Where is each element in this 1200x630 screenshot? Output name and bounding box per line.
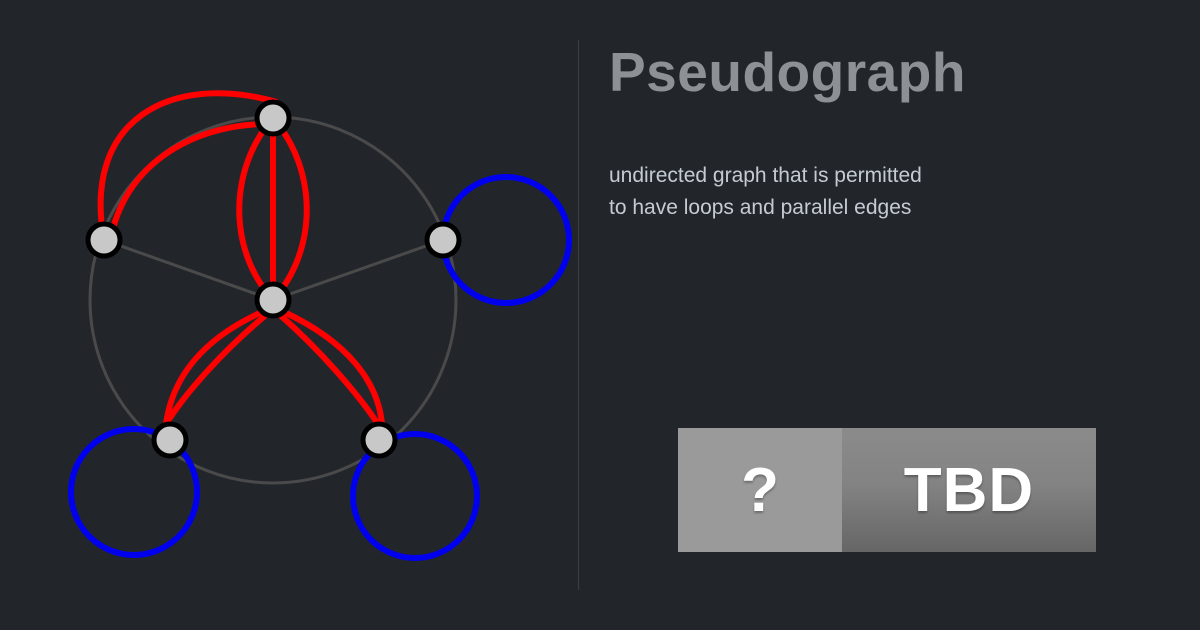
status-badge[interactable]: ? TBD: [678, 428, 1096, 552]
info-panel: Pseudograph undirected graph that is per…: [609, 0, 1169, 630]
graph-node-bottom-right[interactable]: [363, 424, 395, 456]
page-description: undirected graph that is permitted to ha…: [609, 160, 939, 224]
graph-illustration-panel: [0, 0, 578, 630]
self-loop-right-node: [443, 177, 569, 303]
badge-left-question-mark: ?: [678, 428, 842, 552]
pseudograph-diagram: [0, 0, 578, 630]
parallel-edge-center-bottom-left-1: [166, 315, 266, 424]
page-title: Pseudograph: [609, 44, 966, 102]
panel-divider: [578, 40, 579, 590]
graph-node-center[interactable]: [257, 284, 289, 316]
graph-node-right[interactable]: [427, 224, 459, 256]
parallel-edge-left-top-1: [101, 93, 277, 240]
graph-node-bottom-left[interactable]: [154, 424, 186, 456]
parallel-edge-top-center-1: [239, 118, 273, 300]
parallel-edge-top-center-3: [273, 118, 307, 300]
graph-node-left[interactable]: [88, 224, 120, 256]
badge-right-tbd-label: TBD: [842, 428, 1096, 552]
page-root: Pseudograph undirected graph that is per…: [0, 0, 1200, 630]
graph-node-top[interactable]: [257, 102, 289, 134]
